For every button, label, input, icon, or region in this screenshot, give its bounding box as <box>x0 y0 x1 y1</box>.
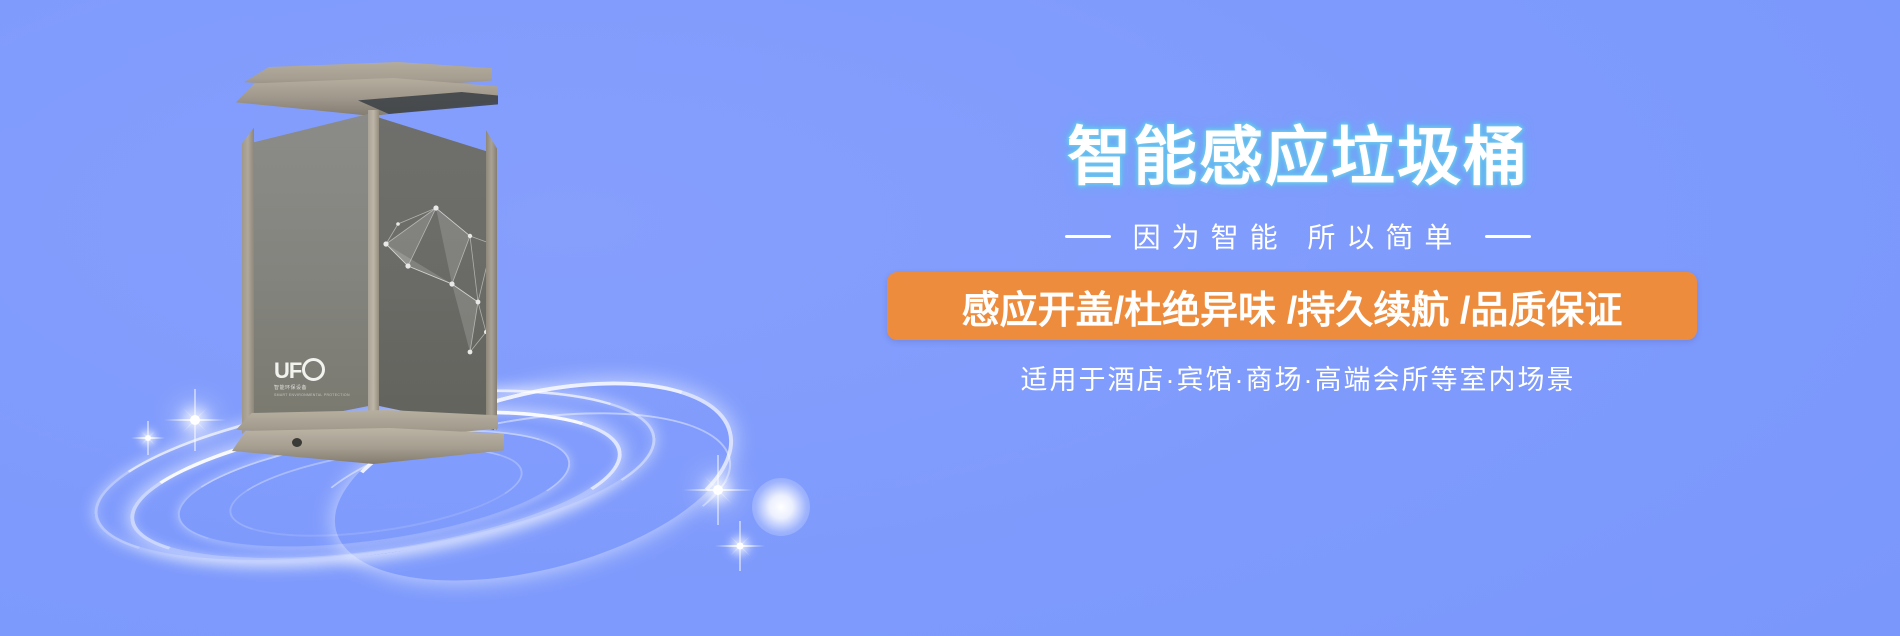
trash-bin-product-image: UF 智能环保设备 SMART ENVIRONMENTAL PROTECTION <box>228 58 508 438</box>
dash-left-icon <box>1065 235 1111 238</box>
sparkle-icon-left-upper <box>160 385 230 455</box>
brand-logo-text: UF <box>274 358 344 382</box>
bin-edge-right <box>486 124 497 430</box>
feature-highlight-bar: 感应开盖/杜绝异味 /持久续航 /品质保证 <box>887 272 1697 340</box>
promo-banner: UF 智能环保设备 SMART ENVIRONMENTAL PROTECTION… <box>0 0 1900 636</box>
bin-edge-left <box>242 118 254 434</box>
glow-orb-icon <box>752 478 810 536</box>
product-scene: UF 智能环保设备 SMART ENVIRONMENTAL PROTECTION <box>0 0 900 636</box>
subtitle: 因为智能 所以简单 <box>880 212 1716 260</box>
subtitle-text: 因为智能 所以简单 <box>1133 216 1464 256</box>
sensor-port-icon <box>292 438 302 447</box>
page-title: 智能感应垃圾桶 <box>880 118 1716 196</box>
brand-logo-subtitle-en: SMART ENVIRONMENTAL PROTECTION <box>274 393 344 397</box>
constellation-graphic-icon <box>374 116 496 366</box>
dash-right-icon <box>1485 235 1531 238</box>
copy-block: 智能感应垃圾桶 因为智能 所以简单 感应开盖/杜绝异味 /持久续航 /品质保证 … <box>880 0 1900 636</box>
bin-edge-center <box>368 110 379 434</box>
brand-logo-ring-icon <box>302 358 325 381</box>
use-cases-text: 适用于酒店·宾馆·商场·高端会所等室内场景 <box>880 360 1716 400</box>
brand-logo: UF 智能环保设备 SMART ENVIRONMENTAL PROTECTION <box>274 358 344 404</box>
bin-panel-right <box>374 116 494 430</box>
sparkle-icon-left-lower <box>128 418 168 458</box>
brand-logo-subtitle: 智能环保设备 <box>274 384 344 391</box>
